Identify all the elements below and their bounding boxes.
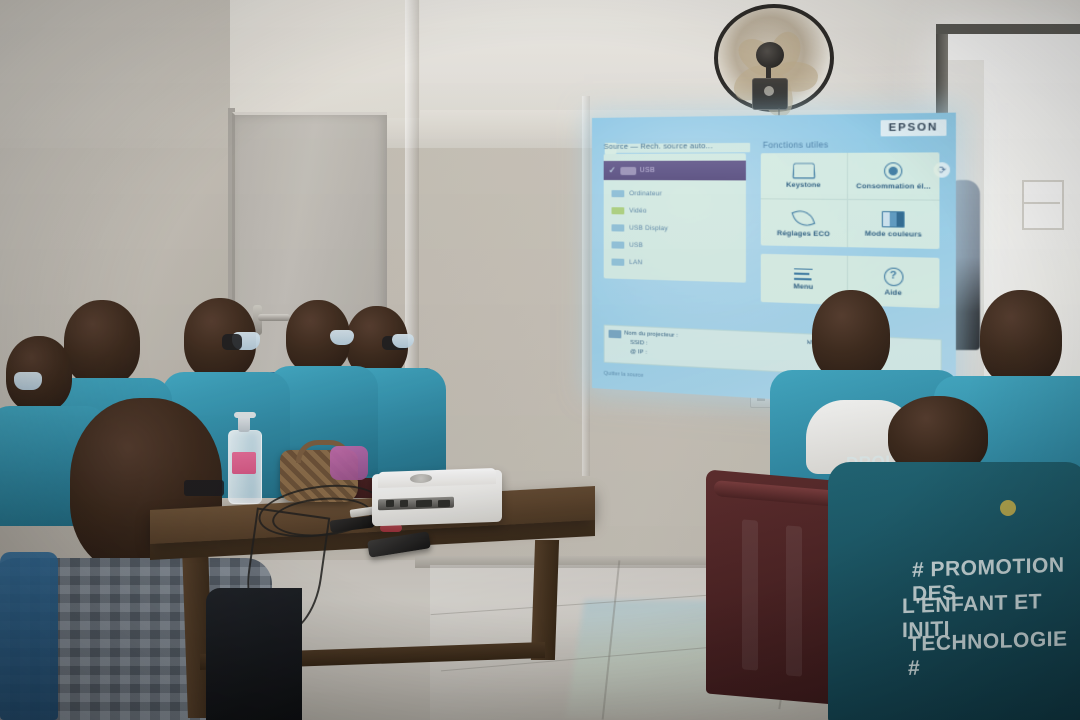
keystone-icon: [792, 163, 815, 179]
source-item-0[interactable]: Ordinateur: [612, 188, 662, 199]
function-label: Réglages ECO: [777, 229, 830, 237]
check-icon: ✓: [609, 165, 616, 176]
source-item-label: USB Display: [629, 225, 668, 233]
function-label: Aide: [884, 289, 902, 297]
source-item-4[interactable]: LAN: [612, 256, 643, 268]
plug-icon: [620, 166, 636, 174]
function-button-consommation[interactable]: Consommation él...: [848, 152, 939, 200]
chair-blue-foreground[interactable]: [0, 552, 58, 720]
menu-lines-icon: [794, 268, 813, 280]
head: [64, 300, 140, 386]
functions-grid: Keystone Consommation él... Réglages ECO…: [761, 152, 940, 249]
network-badge-icon: [609, 330, 622, 339]
projector-port[interactable]: [386, 500, 394, 507]
mask: [330, 330, 354, 345]
distant-window: [1022, 180, 1064, 230]
sanitizer-label: [232, 452, 256, 474]
source-icon: [612, 190, 625, 197]
pink-pouch[interactable]: [330, 446, 368, 480]
color-mode-icon: [882, 211, 905, 228]
sanitizer-nozzle: [234, 412, 256, 418]
source-item-3[interactable]: USB: [612, 239, 644, 251]
projected-screen: EPSON Source — Rech. source auto... ✓ US…: [592, 113, 956, 411]
source-selected-label: USB: [640, 167, 655, 174]
source-item-1[interactable]: Vidéo: [612, 205, 647, 217]
functions-title: Fonctions utiles: [763, 140, 829, 150]
mask: [14, 372, 42, 390]
source-item-label: Ordinateur: [629, 190, 662, 197]
source-icon: [612, 241, 625, 248]
function-label: Keystone: [786, 182, 821, 190]
power-sun-icon: [884, 162, 902, 179]
mask: [222, 334, 242, 350]
function-button-eco[interactable]: Réglages ECO: [761, 199, 848, 247]
function-button-keystone[interactable]: Keystone: [761, 153, 848, 200]
epson-home-screen: EPSON Source — Rech. source auto... ✓ US…: [592, 113, 956, 411]
classroom-photo: EPSON Source — Rech. source auto... ✓ US…: [0, 0, 1080, 720]
function-button-mode-couleurs[interactable]: Mode couleurs: [848, 200, 939, 249]
source-item-label: Vidéo: [629, 207, 646, 214]
function-label: Mode couleurs: [865, 230, 922, 239]
epson-logo: EPSON: [881, 119, 947, 136]
wall-corner-edge-2: [582, 96, 590, 476]
source-icon: [612, 207, 625, 214]
function-label: Consommation él...: [856, 182, 931, 190]
source-item-2[interactable]: USB Display: [612, 222, 668, 234]
foreground-shadow: [206, 588, 302, 720]
door-handle[interactable]: [258, 314, 290, 321]
head: [980, 290, 1062, 386]
projector-port[interactable]: [416, 500, 432, 508]
distant-window-mullion: [1022, 202, 1060, 204]
eyeglasses: [184, 480, 224, 496]
shirt-button: [1000, 500, 1016, 516]
function-label: Menu: [793, 283, 813, 291]
info-line-ssid: SSID :: [630, 340, 648, 347]
fan-control-knob[interactable]: [764, 86, 774, 96]
source-icon: [612, 258, 625, 265]
projector-port[interactable]: [438, 500, 450, 507]
chair-slat: [742, 519, 758, 670]
head: [812, 290, 890, 382]
source-selected-row[interactable]: ✓ USB: [604, 161, 746, 181]
mask: [392, 334, 414, 348]
projector-port[interactable]: [400, 500, 408, 507]
shirt-text-front-line3: TECHNOLOGIE #: [908, 627, 1080, 680]
source-icon: [612, 224, 625, 231]
fan-hub: [756, 42, 784, 68]
source-item-label: USB: [629, 242, 643, 249]
doorway-frame-top: [936, 24, 1080, 34]
source-item-label: LAN: [629, 259, 642, 266]
source-header: Source — Rech. source auto...: [604, 141, 757, 151]
help-question-icon: ?: [883, 267, 902, 286]
leaf-icon: [791, 206, 815, 229]
chair-slat: [786, 525, 802, 676]
info-line-ip: @ IP :: [630, 349, 647, 356]
info-line-name: Nom du projecteur :: [624, 330, 678, 339]
